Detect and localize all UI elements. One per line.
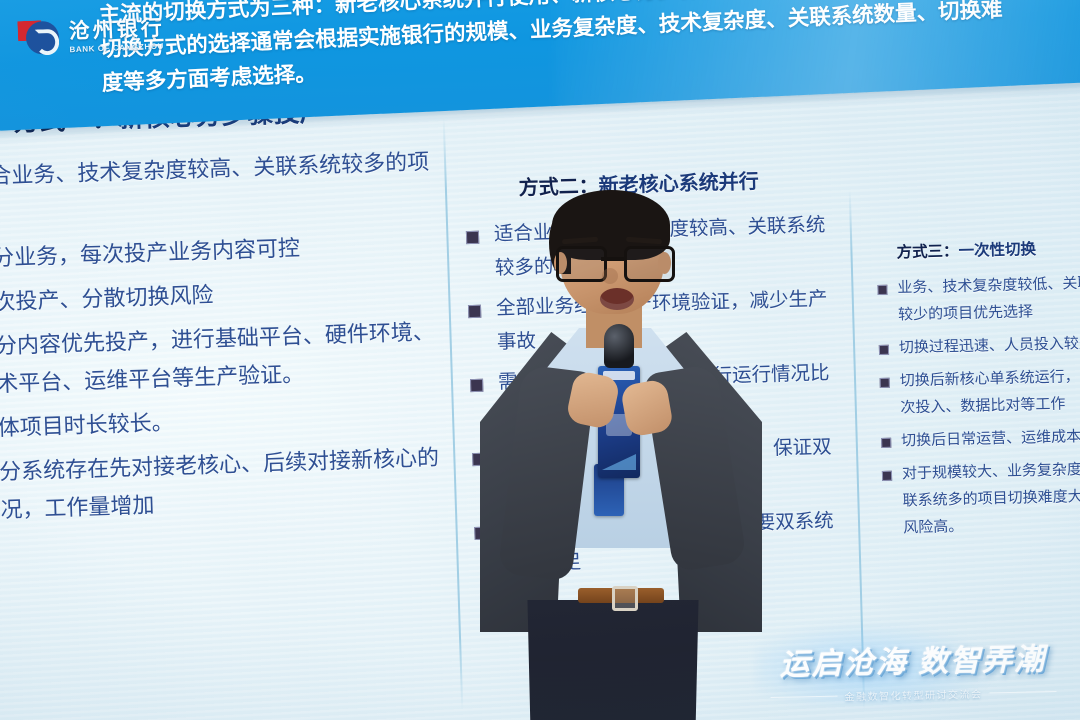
list-item: 对于规模较大、业务复杂度高、关联系统多的项目切换难度大、切换风险高。 <box>880 455 1080 542</box>
bank-logo-text: 沧州银行 BANK OF CANGZHOU <box>68 17 165 54</box>
slide-column-1: 方式一：新核心分步骤投产 适合业务、技术复杂度较高、关联系统较多的项目 拆分业务… <box>0 88 444 537</box>
bank-logo: 沧州银行 BANK OF CANGZHOU <box>17 9 187 63</box>
event-subtitle: 金融数智化转型研讨交流会 <box>844 686 982 704</box>
nose <box>602 268 618 284</box>
mouth <box>600 288 634 310</box>
subtitle-rule-left <box>771 696 838 698</box>
presentation-photo: 方式一：新核心分步骤投产 适合业务、技术复杂度较高、关联系统较多的项目 拆分业务… <box>0 0 1080 720</box>
list-item: 切换过程迅速、人员投入较少 <box>877 329 1080 362</box>
event-title: 运启沧海 数智弄潮 <box>769 634 1056 684</box>
subtitle-rule-right <box>989 691 1056 693</box>
column-3-heading: 方式三：一次性切换 <box>896 235 1080 263</box>
microphone-head <box>604 324 634 368</box>
list-item: 业务、技术复杂度较低、关联系统较少的项目优先选择 <box>875 269 1080 329</box>
list-item: 部分系统存在先对接老核心、后续对接新核心的情况，工作量增加 <box>0 439 444 531</box>
list-item: 适合业务、技术复杂度较高、关联系统较多的项目 <box>0 143 434 235</box>
column-3-heading-label: 方式三： <box>896 243 958 262</box>
slide-column-3: 方式三：一次性切换 业务、技术复杂度较低、关联系统较少的项目优先选择 切换过程迅… <box>874 235 1080 548</box>
column-3-heading-value: 一次性切换 <box>958 241 1036 260</box>
list-item: 部分内容优先投产，进行基础平台、硬件环境、技术平台、运维平台等生产验证。 <box>0 313 440 405</box>
trousers <box>520 600 706 720</box>
logo-blue-shape <box>25 21 59 55</box>
flag-bottom-swoosh <box>602 454 636 470</box>
belt <box>578 588 664 603</box>
bank-logo-icon <box>17 18 63 60</box>
glasses-bridge <box>601 257 624 261</box>
lens-right <box>624 246 675 282</box>
column-1-bullet-list: 适合业务、技术复杂度较高、关联系统较多的项目 拆分业务，每次投产业务内容可控 多… <box>0 143 444 531</box>
list-item: 切换后日常运营、运维成本低 <box>879 422 1080 455</box>
event-watermark: 运启沧海 数智弄潮 金融数智化转型研讨交流会 <box>769 634 1056 705</box>
list-item: 切换后新核心单系统运行，无需二次投入、数据比对等工作 <box>877 362 1080 422</box>
presenter <box>474 196 774 720</box>
lens-left <box>556 246 607 282</box>
bank-name-cn: 沧州银行 <box>68 17 165 42</box>
column-3-bullet-list: 业务、技术复杂度较低、关联系统较少的项目优先选择 切换过程迅速、人员投入较少 切… <box>875 269 1080 542</box>
bank-name-en: BANK OF CANGZHOU <box>69 42 165 54</box>
